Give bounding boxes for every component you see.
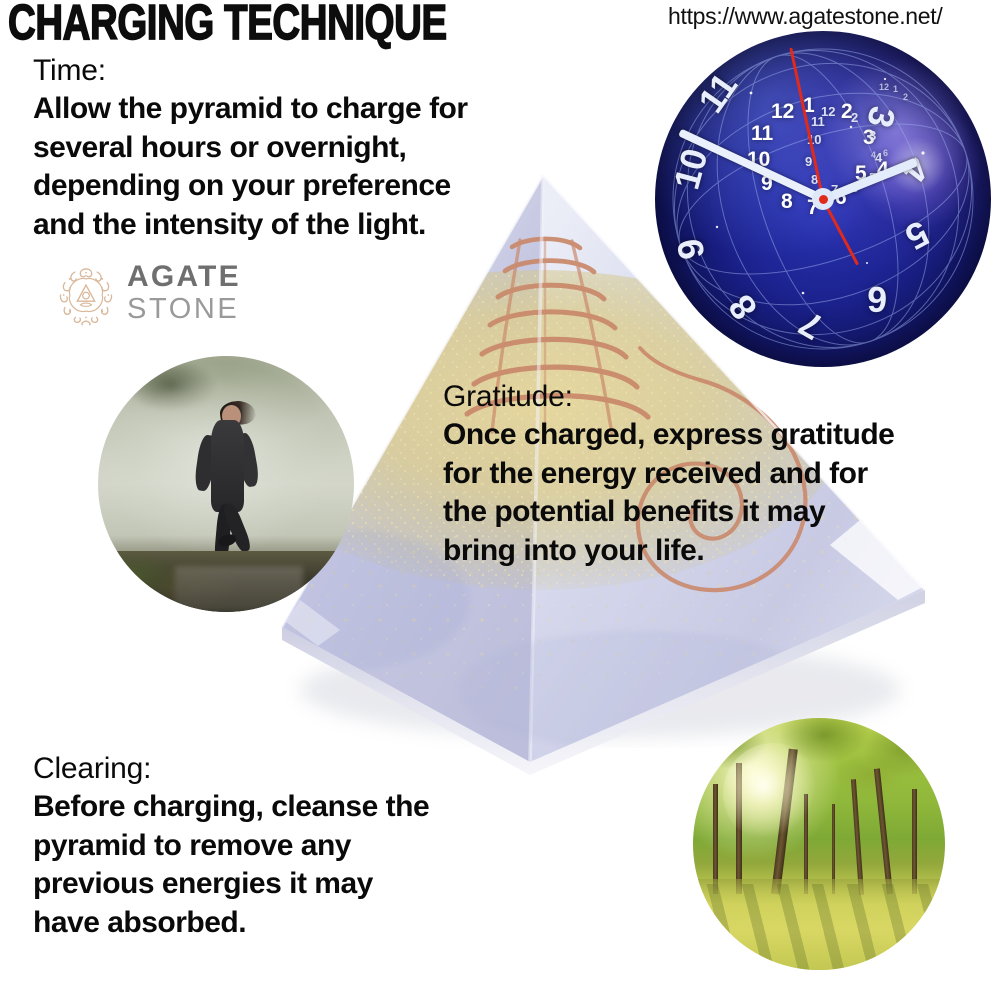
woman-jogging-in-misty-forest-photo xyxy=(98,356,354,612)
section-clearing-heading: Clearing: xyxy=(33,750,429,788)
section-clearing-body: Before charging, cleanse the pyramid to … xyxy=(33,788,429,942)
clock-num-12-mid: 12 xyxy=(771,101,794,122)
infographic-canvas: 11 10 9 8 7 6 5 4 3 12 1 2 3 4 5 6 7 8 9… xyxy=(0,0,1000,1000)
clock-num-8-mid: 8 xyxy=(781,191,793,212)
ornamental-pyramid-badge-icon xyxy=(55,264,117,326)
section-clearing-line: Before charging, cleanse the xyxy=(33,788,429,827)
section-gratitude-line: bring into your life. xyxy=(443,532,894,571)
section-gratitude-line: Once charged, express gratitude xyxy=(443,416,894,455)
clock-num-3-inner: 3 xyxy=(869,129,876,142)
section-gratitude-line: the potential benefits it may xyxy=(443,493,894,532)
clock-num-12-micro: 12 xyxy=(879,83,889,92)
section-time: Time: Allow the pyramid to charge for se… xyxy=(33,52,468,244)
section-clearing: Clearing: Before charging, cleanse the p… xyxy=(33,750,429,942)
section-time-line: and the intensity of the light. xyxy=(33,206,468,245)
section-time-line: several hours or overnight, xyxy=(33,129,468,168)
clock-num-6-outer: 6 xyxy=(866,281,887,318)
logo-wordmark: AGATE STONE xyxy=(127,262,241,324)
section-gratitude-heading: Gratitude: xyxy=(443,378,894,416)
section-clearing-line: previous energies it may xyxy=(33,865,429,904)
section-gratitude: Gratitude: Once charged, express gratitu… xyxy=(443,378,894,570)
section-gratitude-body: Once charged, express gratitude for the … xyxy=(443,416,894,570)
page-title: CHARGING TECHNIQUE xyxy=(8,0,447,47)
wet-path xyxy=(175,566,303,612)
section-gratitude-line: for the energy received and for xyxy=(443,455,894,494)
website-url[interactable]: https://www.agatestone.net/ xyxy=(668,3,942,30)
section-clearing-line: have absorbed. xyxy=(33,904,429,943)
logo-line-stone: STONE xyxy=(127,295,241,324)
clock-num-2-micro: 2 xyxy=(903,93,908,102)
section-time-line: depending on your preference xyxy=(33,167,468,206)
clock-center-pin xyxy=(819,195,828,204)
clock-num-11-inner: 11 xyxy=(811,115,825,128)
runner-torso xyxy=(211,420,244,512)
clock-num-6-micro: 6 xyxy=(883,149,888,158)
section-time-body: Allow the pyramid to charge for several … xyxy=(33,90,468,244)
sun-flare xyxy=(723,743,824,844)
clock-num-9-inner: 9 xyxy=(805,155,812,168)
clock-num-2-inner: 2 xyxy=(851,111,858,124)
clock-num-1-micro: 1 xyxy=(893,85,898,94)
galaxy-wall-clock-photo: 11 10 9 8 7 6 5 4 3 12 1 2 3 4 5 6 7 8 9… xyxy=(655,31,991,367)
forest-shadow-stripes xyxy=(693,884,945,970)
tree-trunk xyxy=(713,784,718,895)
sunlit-forest-photo xyxy=(693,718,945,970)
clock-num-11-mid: 11 xyxy=(751,123,773,144)
section-clearing-line: pyramid to remove any xyxy=(33,827,429,866)
agate-stone-logo[interactable]: AGATE STONE xyxy=(55,262,225,328)
clock-num-4-micro: 4 xyxy=(871,151,876,160)
section-time-line: Allow the pyramid to charge for xyxy=(33,90,468,129)
section-time-heading: Time: xyxy=(33,52,468,90)
clock-num-4-inner: 4 xyxy=(875,151,882,164)
logo-line-agate: AGATE xyxy=(127,262,241,292)
